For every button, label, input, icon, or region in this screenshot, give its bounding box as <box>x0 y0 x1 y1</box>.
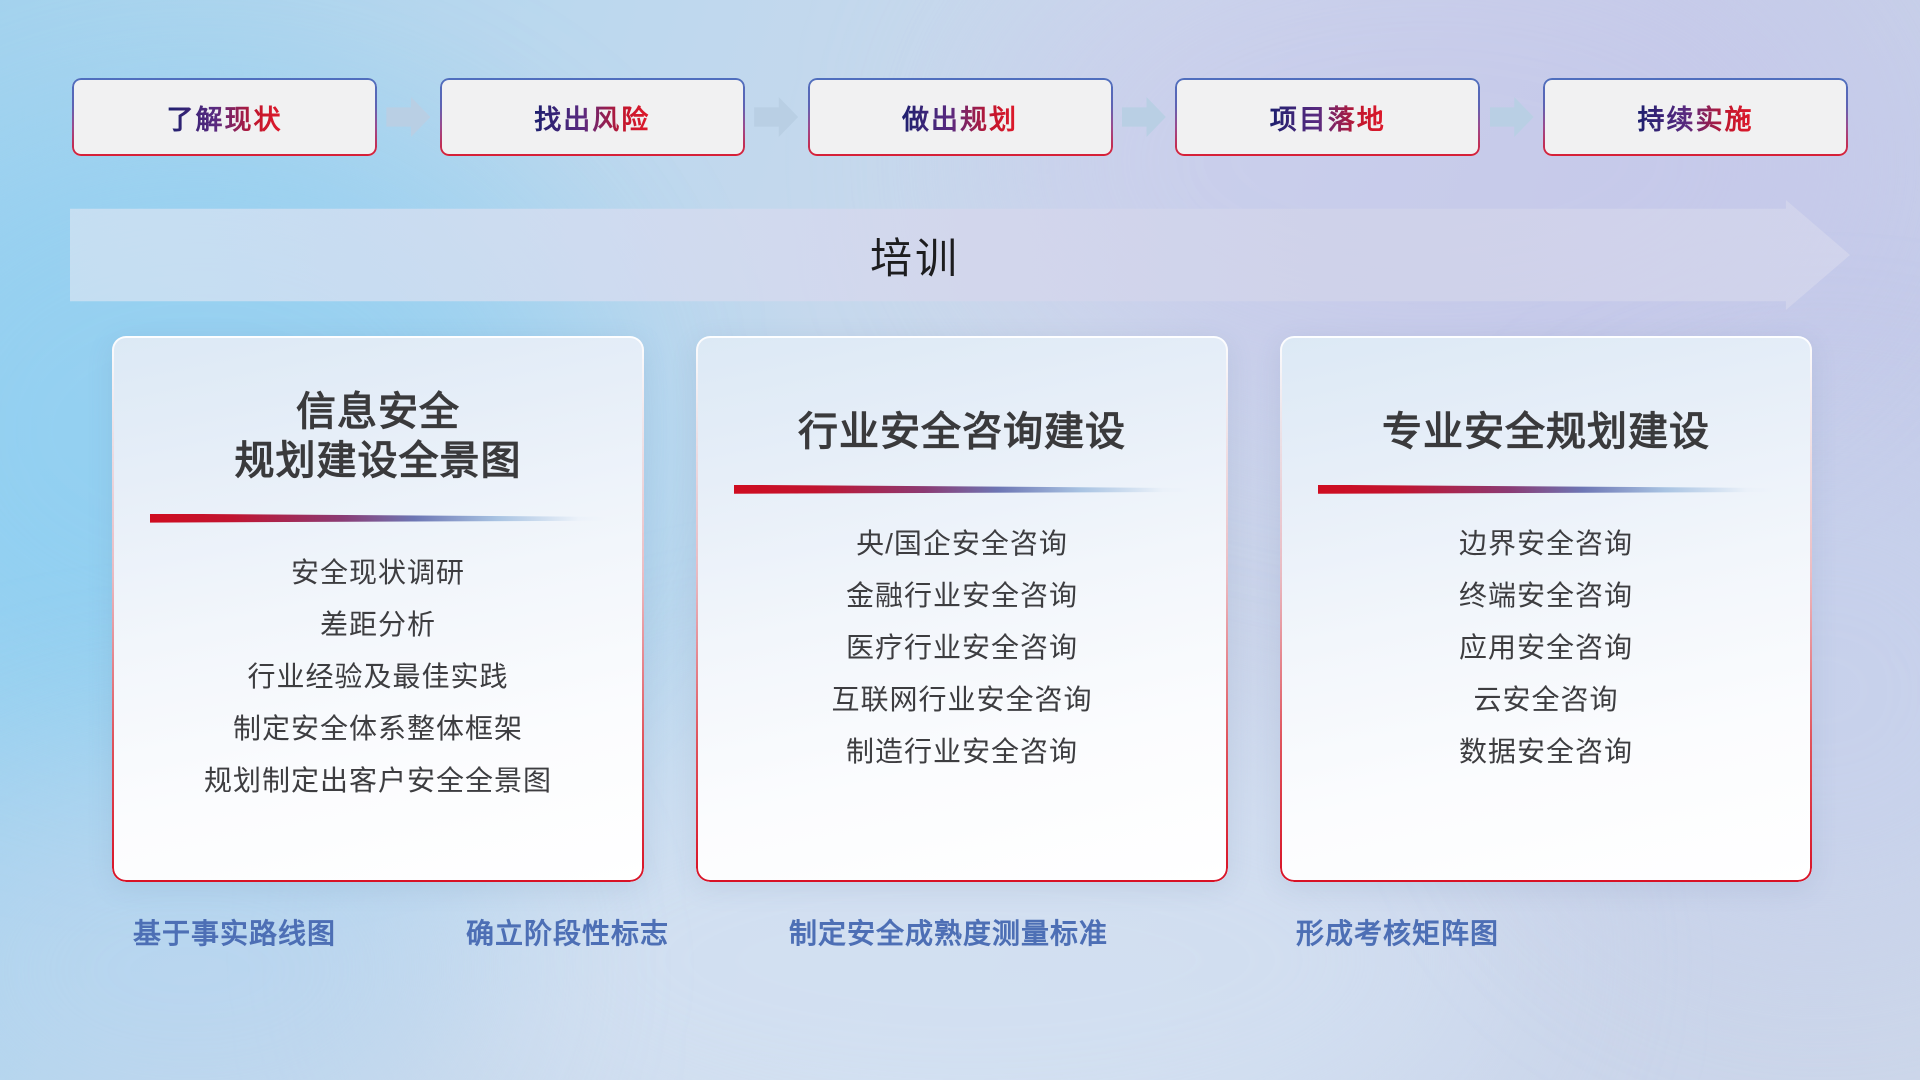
card-item-list: 安全现状调研 差距分析 行业经验及最佳实践 制定安全体系整体框架 规划制定出客户… <box>112 547 644 807</box>
card-professional-security-planning[interactable]: 专业安全规划建设 边界安全咨询 终端安全咨询 应用安全咨询 云安全咨询 数据安全… <box>1280 336 1812 882</box>
step-box-4[interactable]: 项目落地 <box>1175 78 1480 156</box>
step-box-2[interactable]: 找出风险 <box>440 78 745 156</box>
caption-label: 形成考核矩阵图 <box>1296 912 1499 952</box>
step-box-5[interactable]: 持续实施 <box>1543 78 1848 156</box>
card-info-security-panorama[interactable]: 信息安全 规划建设全景图 安全现状调研 差距分析 行业经验及最佳实践 制定安全体… <box>112 336 644 882</box>
list-item: 制定安全体系整体框架 <box>112 703 644 755</box>
list-item: 边界安全咨询 <box>1280 518 1812 570</box>
list-item: 医疗行业安全咨询 <box>696 622 1228 674</box>
caption-label: 基于事实路线图 <box>133 912 336 952</box>
card-title: 信息安全 规划建设全景图 <box>211 388 546 486</box>
step-label: 做出规划 <box>902 98 1018 137</box>
arrow-right-icon <box>1122 97 1166 137</box>
list-item: 互联网行业安全咨询 <box>696 674 1228 726</box>
caption-label: 确立阶段性标志 <box>466 912 669 952</box>
process-step-row: 了解现状 找出风险 做出规划 项目落地 持续实施 <box>72 78 1848 156</box>
list-item: 差距分析 <box>112 599 644 651</box>
list-item: 规划制定出客户安全全景图 <box>112 755 644 807</box>
arrow-right-icon <box>754 97 798 137</box>
arrow-right-icon <box>1490 97 1534 137</box>
step-label: 找出风险 <box>534 98 650 137</box>
step-box-1[interactable]: 了解现状 <box>72 78 377 156</box>
list-item: 云安全咨询 <box>1280 674 1812 726</box>
list-item: 应用安全咨询 <box>1280 622 1812 674</box>
list-item: 安全现状调研 <box>112 547 644 599</box>
list-item: 数据安全咨询 <box>1280 726 1812 778</box>
list-item: 终端安全咨询 <box>1280 570 1812 622</box>
caption-label: 制定安全成熟度测量标准 <box>789 912 1108 952</box>
step-label: 了解现状 <box>167 98 283 137</box>
card-title: 行业安全咨询建设 <box>774 408 1150 457</box>
caption-row: 基于事实路线图 确立阶段性标志 制定安全成熟度测量标准 形成考核矩阵图 <box>0 912 1920 964</box>
list-item: 行业经验及最佳实践 <box>112 651 644 703</box>
slide-canvas: 了解现状 找出风险 做出规划 项目落地 持续实施 培训 信息安全 规划建设全景图… <box>0 0 1920 1080</box>
card-item-list: 边界安全咨询 终端安全咨询 应用安全咨询 云安全咨询 数据安全咨询 <box>1280 518 1812 778</box>
card-row: 信息安全 规划建设全景图 安全现状调研 差距分析 行业经验及最佳实践 制定安全体… <box>112 336 1812 882</box>
training-banner-label: 培训 <box>70 200 1850 310</box>
card-item-list: 央/国企安全咨询 金融行业安全咨询 医疗行业安全咨询 互联网行业安全咨询 制造行… <box>696 518 1228 778</box>
step-box-3[interactable]: 做出规划 <box>808 78 1113 156</box>
list-item: 制造行业安全咨询 <box>696 726 1228 778</box>
card-title: 专业安全规划建设 <box>1358 408 1734 457</box>
list-item: 金融行业安全咨询 <box>696 570 1228 622</box>
training-banner: 培训 <box>70 200 1850 310</box>
step-label: 项目落地 <box>1270 98 1386 137</box>
arrow-right-icon <box>386 97 430 137</box>
list-item: 央/国企安全咨询 <box>696 518 1228 570</box>
step-label: 持续实施 <box>1638 98 1754 137</box>
card-divider <box>1318 485 1774 494</box>
card-divider <box>150 514 606 523</box>
card-industry-security-consulting[interactable]: 行业安全咨询建设 央/国企安全咨询 金融行业安全咨询 医疗行业安全咨询 互联网行… <box>696 336 1228 882</box>
card-divider <box>734 485 1190 494</box>
